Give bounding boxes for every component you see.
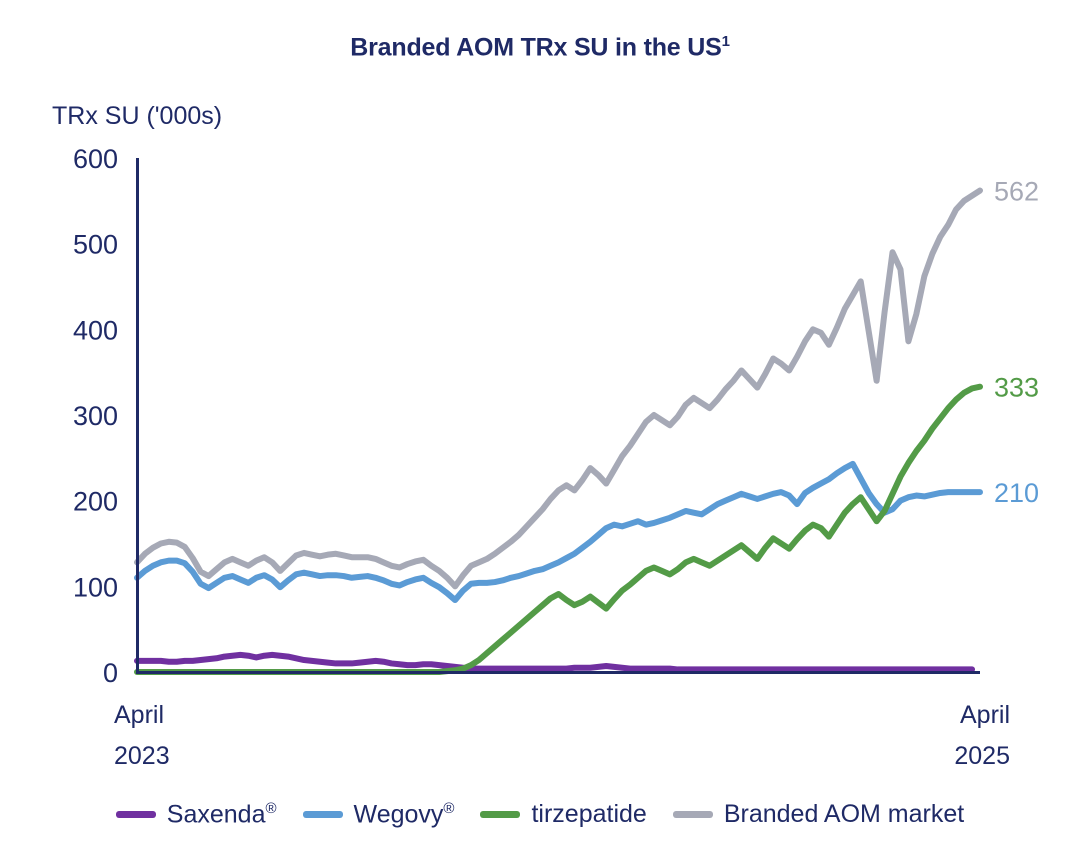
legend-label: Branded AOM market xyxy=(724,800,964,829)
legend-swatch-icon xyxy=(673,811,713,818)
line-chart-svg: 0100200300400500600 210333562 April2023A… xyxy=(0,0,1080,867)
x-tick-left-line2: 2023 xyxy=(114,742,170,770)
legend-item-branded-aom-market[interactable]: Branded AOM market xyxy=(673,800,964,829)
legend-item-wegovy[interactable]: Wegovy® xyxy=(303,800,455,829)
legend-item-saxenda[interactable]: Saxenda® xyxy=(116,800,277,829)
x-tick-right-line1: April xyxy=(960,701,1010,729)
legend-label-superscript: ® xyxy=(265,800,276,817)
series-line-tirzepatide xyxy=(137,387,980,672)
chart-legend: Saxenda®Wegovy®tirzepatideBranded AOM ma… xyxy=(0,800,1080,829)
legend-swatch-icon xyxy=(116,811,156,818)
y-tick-200: 200 xyxy=(73,487,118,517)
x-axis-tick-labels: April2023April2025 xyxy=(114,701,1010,770)
y-tick-400: 400 xyxy=(73,315,118,345)
legend-label: Wegovy® xyxy=(354,800,455,829)
legend-swatch-icon xyxy=(303,811,343,818)
y-tick-100: 100 xyxy=(73,572,118,602)
y-tick-500: 500 xyxy=(73,230,118,260)
chart-plot-area: 0100200300400500600 210333562 April2023A… xyxy=(0,0,1080,867)
y-tick-0: 0 xyxy=(103,658,118,688)
chart-series-group xyxy=(137,191,980,672)
series-end-value-labels: 210333562 xyxy=(994,177,1039,509)
y-tick-600: 600 xyxy=(73,144,118,174)
y-tick-300: 300 xyxy=(73,401,118,431)
end-label-tirzepatide: 333 xyxy=(994,373,1039,403)
legend-label: tirzepatide xyxy=(531,800,646,829)
y-axis-tick-labels: 0100200300400500600 xyxy=(73,144,118,688)
legend-swatch-icon xyxy=(480,811,520,818)
x-tick-right-line2: 2025 xyxy=(954,742,1010,770)
series-line-wegovy xyxy=(137,464,980,600)
x-tick-left-line1: April xyxy=(114,701,164,729)
series-line-saxenda xyxy=(137,655,972,670)
end-label-branded-aom-market: 562 xyxy=(994,177,1039,207)
legend-label: Saxenda® xyxy=(167,800,277,829)
legend-item-tirzepatide[interactable]: tirzepatide xyxy=(480,800,646,829)
series-line-branded-aom-market xyxy=(137,191,980,587)
legend-label-superscript: ® xyxy=(443,800,454,817)
end-label-wegovy: 210 xyxy=(994,478,1039,508)
